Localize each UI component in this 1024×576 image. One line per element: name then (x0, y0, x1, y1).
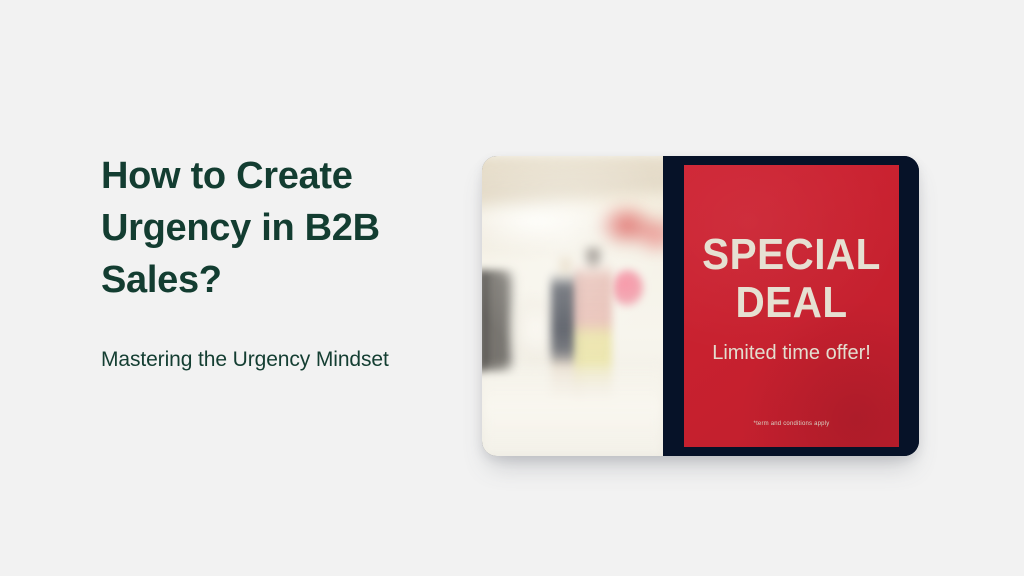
media-card: SPECIAL DEAL Limited time offer! *term a… (482, 156, 919, 456)
mall-photo (482, 156, 663, 456)
page-subtitle: Mastering the Urgency Mindset (101, 306, 431, 375)
poster-subtitle: Limited time offer! (712, 327, 871, 365)
special-deal-poster: SPECIAL DEAL Limited time offer! *term a… (684, 165, 899, 447)
page-title: How to Create Urgency in B2B Sales? (101, 150, 431, 306)
media-card-wrapper: SPECIAL DEAL Limited time offer! *term a… (482, 156, 919, 456)
text-column: How to Create Urgency in B2B Sales? Mast… (101, 150, 431, 375)
poster-title: SPECIAL DEAL (693, 165, 891, 327)
photo-light-sheen (482, 156, 663, 456)
poster-frame: SPECIAL DEAL Limited time offer! *term a… (663, 156, 919, 456)
poster-fine-print: *term and conditions apply (684, 420, 899, 429)
slide-canvas: How to Create Urgency in B2B Sales? Mast… (0, 0, 1024, 576)
